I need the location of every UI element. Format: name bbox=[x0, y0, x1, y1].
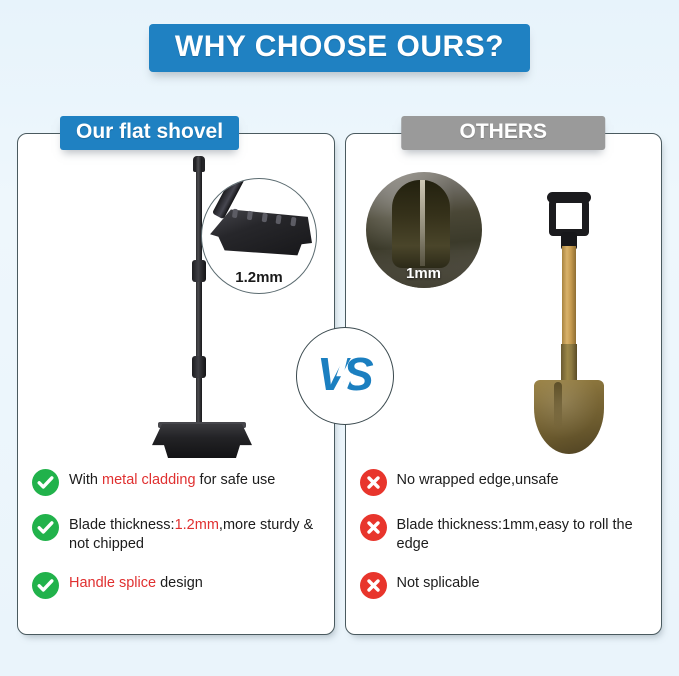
callout-split-edge bbox=[420, 180, 425, 266]
title-banner-plate: WHY CHOOSE OURS? bbox=[149, 24, 530, 72]
feature-item: No wrapped edge,unsafe bbox=[360, 468, 650, 496]
others-product-area: 1mm bbox=[346, 134, 662, 464]
feature-segment: Blade thickness: bbox=[69, 517, 175, 533]
shovel-round-blade bbox=[534, 380, 604, 454]
feature-segment: Not splicable bbox=[397, 575, 480, 591]
cross-circle-icon bbox=[360, 572, 387, 599]
cross-circle-icon bbox=[360, 514, 387, 541]
ours-product-area: 1.2mm bbox=[18, 134, 334, 464]
feature-item: Not splicable bbox=[360, 571, 650, 599]
feature-segment-highlight: Handle splice bbox=[69, 575, 156, 591]
shovel-wooden-shaft bbox=[562, 246, 576, 350]
others-thickness-label: 1mm bbox=[366, 265, 482, 282]
lightning-bolt-outline bbox=[335, 334, 352, 416]
feature-segment: No wrapped edge,unsafe bbox=[397, 472, 559, 488]
ours-callout-circle: 1.2mm bbox=[201, 178, 317, 294]
feature-segment: With bbox=[69, 472, 102, 488]
feature-segment-highlight: metal cladding bbox=[102, 472, 196, 488]
feature-segment: Blade thickness:1mm,easy to roll the edg… bbox=[397, 517, 633, 552]
shovel-grip-bar bbox=[547, 192, 591, 203]
feature-text: Not splicable bbox=[397, 571, 480, 593]
feature-text: With metal cladding for safe use bbox=[69, 468, 275, 490]
shovel-blade-rib bbox=[554, 382, 562, 428]
ours-feature-list: With metal cladding for safe use Blade t… bbox=[32, 468, 322, 616]
feature-item: Blade thickness:1.2mm,more sturdy & not … bbox=[32, 513, 322, 554]
cross-circle-icon bbox=[360, 469, 387, 496]
shovel-handle bbox=[196, 156, 202, 428]
feature-segment-highlight: 1.2mm bbox=[175, 517, 219, 533]
feature-segment: design bbox=[156, 575, 203, 591]
shovel-blade bbox=[152, 424, 252, 458]
feature-segment: for safe use bbox=[196, 472, 276, 488]
page-title-banner: WHY CHOOSE OURS? bbox=[0, 24, 679, 72]
feature-item: With metal cladding for safe use bbox=[32, 468, 322, 496]
feature-text: Handle splice design bbox=[69, 571, 203, 593]
handle-splice-joint-lower bbox=[192, 356, 206, 378]
feature-item: Blade thickness:1mm,easy to roll the edg… bbox=[360, 513, 650, 554]
feature-text: Blade thickness:1.2mm,more sturdy & not … bbox=[69, 513, 322, 554]
feature-text: No wrapped edge,unsafe bbox=[397, 468, 559, 490]
page-title: WHY CHOOSE OURS? bbox=[175, 31, 504, 63]
others-callout-circle: 1mm bbox=[366, 172, 482, 288]
check-circle-icon bbox=[32, 469, 59, 496]
round-point-shovel-image bbox=[521, 192, 617, 454]
vs-badge: V S bbox=[296, 327, 394, 425]
feature-item: Handle splice design bbox=[32, 571, 322, 599]
check-circle-icon bbox=[32, 514, 59, 541]
ours-thickness-label: 1.2mm bbox=[202, 269, 316, 286]
check-circle-icon bbox=[32, 572, 59, 599]
ours-card: Our flat shovel 1.2mm bbox=[17, 133, 335, 635]
others-feature-list: No wrapped edge,unsafe Blade thickness:1… bbox=[360, 468, 650, 616]
feature-text: Blade thickness:1mm,easy to roll the edg… bbox=[397, 513, 650, 554]
